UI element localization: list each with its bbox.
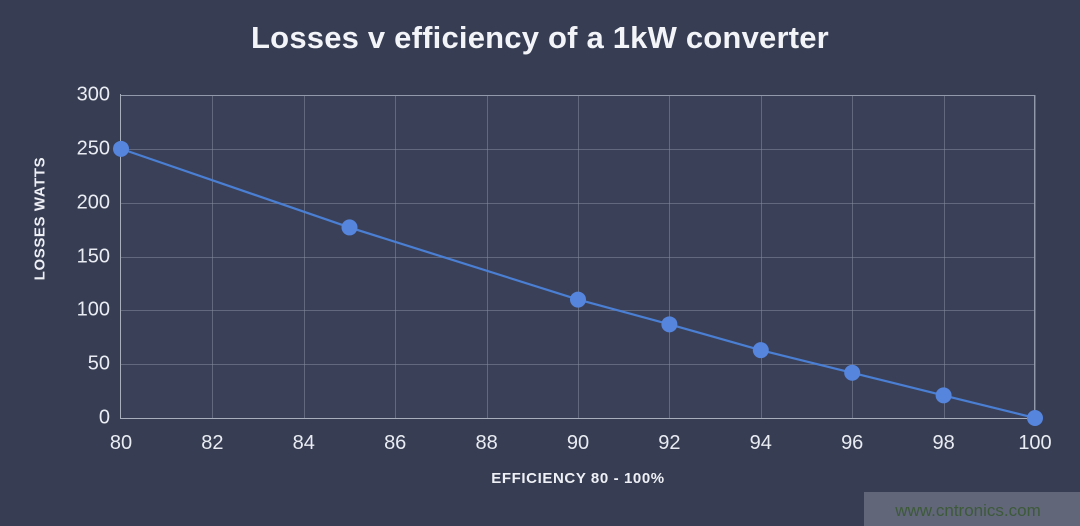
- x-tick-label: 90: [543, 432, 613, 455]
- data-series-losses: [121, 95, 1035, 418]
- x-tick-label: 94: [726, 432, 796, 455]
- chart-title: Losses v efficiency of a 1kW converter: [0, 20, 1080, 56]
- y-tick-label: 250: [50, 137, 110, 160]
- x-tick-label: 82: [177, 432, 247, 455]
- x-tick-label: 92: [634, 432, 704, 455]
- x-axis-line: [120, 418, 1036, 419]
- y-tick-label: 100: [50, 299, 110, 322]
- gridline-vertical: [1035, 95, 1036, 418]
- series-line: [121, 149, 1035, 418]
- y-tick-label: 0: [50, 407, 110, 430]
- x-tick-label: 86: [360, 432, 430, 455]
- x-axis-title: EFFICIENCY 80 - 100%: [121, 470, 1035, 487]
- plot-area: [121, 95, 1035, 418]
- data-point-marker: [753, 342, 769, 358]
- x-axis-tick-labels: 80828486889092949698100: [121, 432, 1035, 458]
- x-tick-label: 88: [452, 432, 522, 455]
- chart-container: Losses v efficiency of a 1kW converter 0…: [0, 0, 1080, 526]
- data-point-marker: [570, 292, 586, 308]
- x-tick-label: 80: [86, 432, 156, 455]
- x-tick-label: 98: [909, 432, 979, 455]
- y-tick-label: 50: [50, 353, 110, 376]
- data-point-marker: [342, 219, 358, 235]
- y-tick-label: 300: [50, 84, 110, 107]
- y-tick-label: 150: [50, 245, 110, 268]
- data-point-marker: [661, 316, 677, 332]
- x-tick-label: 96: [817, 432, 887, 455]
- y-axis-tick-labels: 050100150200250300: [42, 95, 110, 418]
- data-point-marker: [844, 365, 860, 381]
- data-point-marker: [1027, 410, 1043, 426]
- data-point-marker: [113, 141, 129, 157]
- watermark-text: www.cntronics.com: [864, 501, 1072, 521]
- x-tick-label: 84: [269, 432, 339, 455]
- x-tick-label: 100: [1000, 432, 1070, 455]
- y-tick-label: 200: [50, 191, 110, 214]
- y-axis-title: LOSSES WATTS: [32, 119, 49, 319]
- data-point-marker: [936, 387, 952, 403]
